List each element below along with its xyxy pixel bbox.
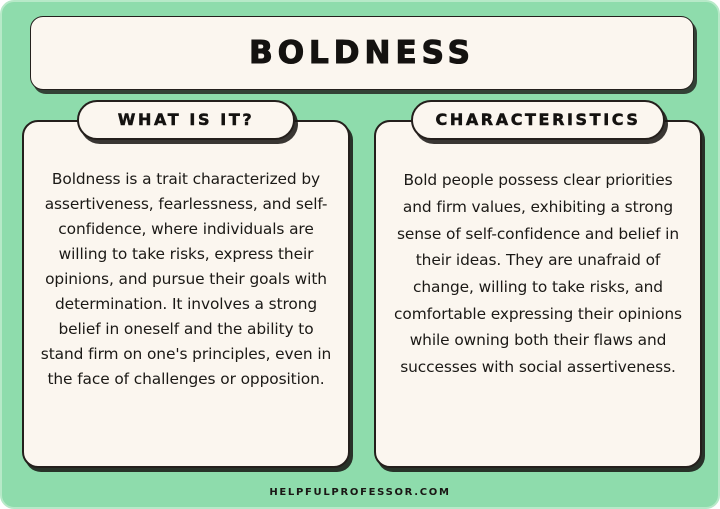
page-title: BOLDNESS — [249, 38, 475, 69]
card-paragraph: Bold people possess clear priorities and… — [392, 167, 684, 380]
card-heading-badge-characteristics: CHARACTERISTICS — [411, 100, 665, 140]
card-paragraph: Boldness is a trait characterized by ass… — [40, 167, 332, 392]
infographic-panel: BOLDNESS WHAT IS IT? Boldness is a trait… — [0, 0, 720, 509]
card-heading-badge-what-is-it: WHAT IS IT? — [77, 100, 295, 140]
footer: HELPFULPROFESSOR.COM — [2, 488, 718, 498]
title-banner: BOLDNESS — [30, 16, 694, 90]
card-body-what-is-it: Boldness is a trait characterized by ass… — [24, 152, 348, 456]
source-attribution: HELPFULPROFESSOR.COM — [269, 488, 450, 498]
card-heading-label: CHARACTERISTICS — [435, 112, 640, 128]
card-heading-label: WHAT IS IT? — [118, 112, 254, 128]
card-characteristics: CHARACTERISTICS Bold people possess clea… — [374, 120, 702, 468]
card-body-characteristics: Bold people possess clear priorities and… — [376, 152, 700, 456]
definition-cards-row: WHAT IS IT? Boldness is a trait characte… — [2, 120, 720, 470]
card-what-is-it: WHAT IS IT? Boldness is a trait characte… — [22, 120, 350, 468]
